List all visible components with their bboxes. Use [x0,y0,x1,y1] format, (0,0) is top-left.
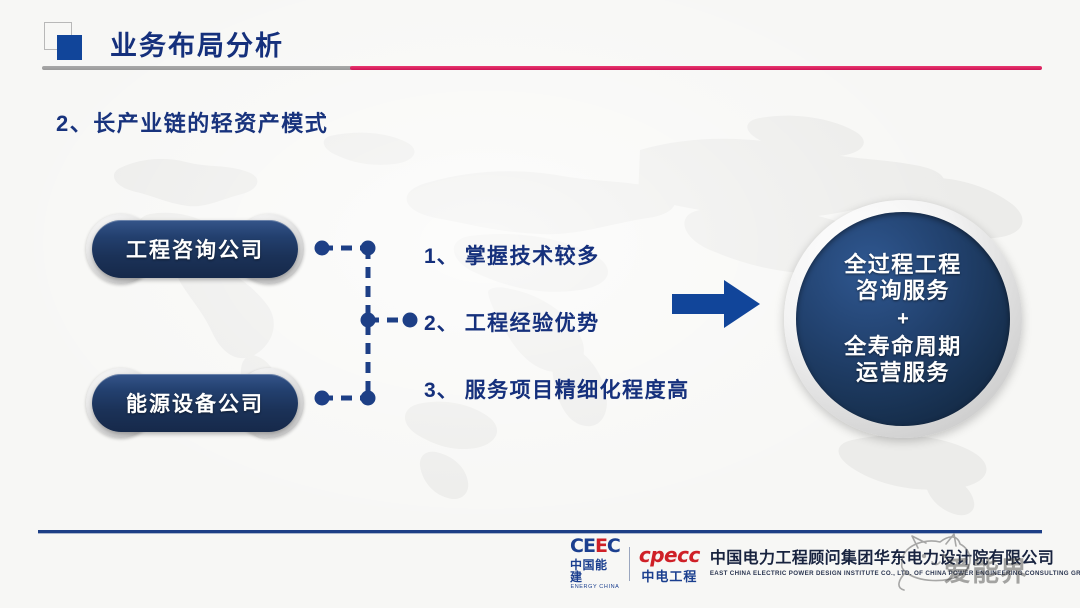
header-rule-pink [350,66,1042,70]
ceec-english-name: ENERGY CHINA [570,585,619,591]
logo-divider [629,547,630,581]
circle-inner: 全过程工程 咨询服务 + 全寿命周期 运营服务 [796,212,1010,426]
ceec-mark-mid: E [595,535,607,557]
ceec-mark-left: CE [570,535,595,557]
footer-divider [38,530,1042,533]
pill-energy-equipment: 能源设备公司 [86,368,304,438]
list-item-number: 3、 [424,374,459,404]
list-item: 3、 服务项目精细化程度高 [424,374,724,404]
result-circle: 全过程工程 咨询服务 + 全寿命周期 运营服务 [784,200,1022,438]
slide-header: 业务布局分析 [0,0,1080,78]
slide-footer: CEEC 中国能建 ENERGY CHINA cpecc 中电工程 中国电力工程… [570,538,1080,590]
circle-line-3: 全寿命周期 [844,334,962,360]
circle-line-1: 全过程工程 [844,252,962,278]
slide-canvas: 业务布局分析 2、长产业链的轻资产模式 工程咨询公司 能源设备公司 [0,0,1080,608]
list-item-label: 服务项目精细化程度高 [465,374,690,404]
circle-plus-sign: + [897,304,909,334]
page-title: 业务布局分析 [110,24,284,63]
list-item: 1、 掌握技术较多 [424,240,724,270]
circle-line-4: 运营服务 [856,360,950,386]
pill-label: 工程咨询公司 [126,234,264,264]
list-item-label: 掌握技术较多 [465,240,600,270]
cpecc-chinese-name: 中电工程 [641,570,697,583]
list-item-label: 工程经验优势 [465,307,600,337]
ceec-logo: CEEC 中国能建 ENERGY CHINA [570,537,620,591]
advantages-list: 1、 掌握技术较多 2、 工程经验优势 3、 服务项目精细化程度高 [424,240,724,441]
pill-engineering-consulting: 工程咨询公司 [86,214,304,284]
cpecc-logo: cpecc 中电工程 [639,545,700,583]
company-name-block: 中国电力工程顾问集团华东电力设计院有限公司 EAST CHINA ELECTRI… [710,551,1080,577]
pill-body: 能源设备公司 [92,374,298,432]
ceec-wordmark: CEEC [570,537,620,556]
company-name-en: EAST CHINA ELECTRIC POWER DESIGN INSTITU… [710,571,1080,577]
header-square-icon [44,22,86,60]
company-name-cn: 中国电力工程顾问集团华东电力设计院有限公司 [710,551,1080,567]
ceec-chinese-name: 中国能建 [570,559,620,583]
section-subtitle: 2、长产业链的轻资产模式 [56,106,328,138]
ceec-mark-right: C [607,535,620,557]
dashed-connector [300,228,440,418]
pill-label: 能源设备公司 [126,388,264,418]
circle-line-2: 咨询服务 [856,278,950,304]
pill-body: 工程咨询公司 [92,220,298,278]
right-arrow-icon [672,278,760,330]
list-item-number: 1、 [424,240,459,270]
list-item-number: 2、 [424,307,459,337]
header-rule-gray [42,66,352,70]
square-filled-icon [57,35,82,60]
cpecc-wordmark: cpecc [639,545,700,565]
